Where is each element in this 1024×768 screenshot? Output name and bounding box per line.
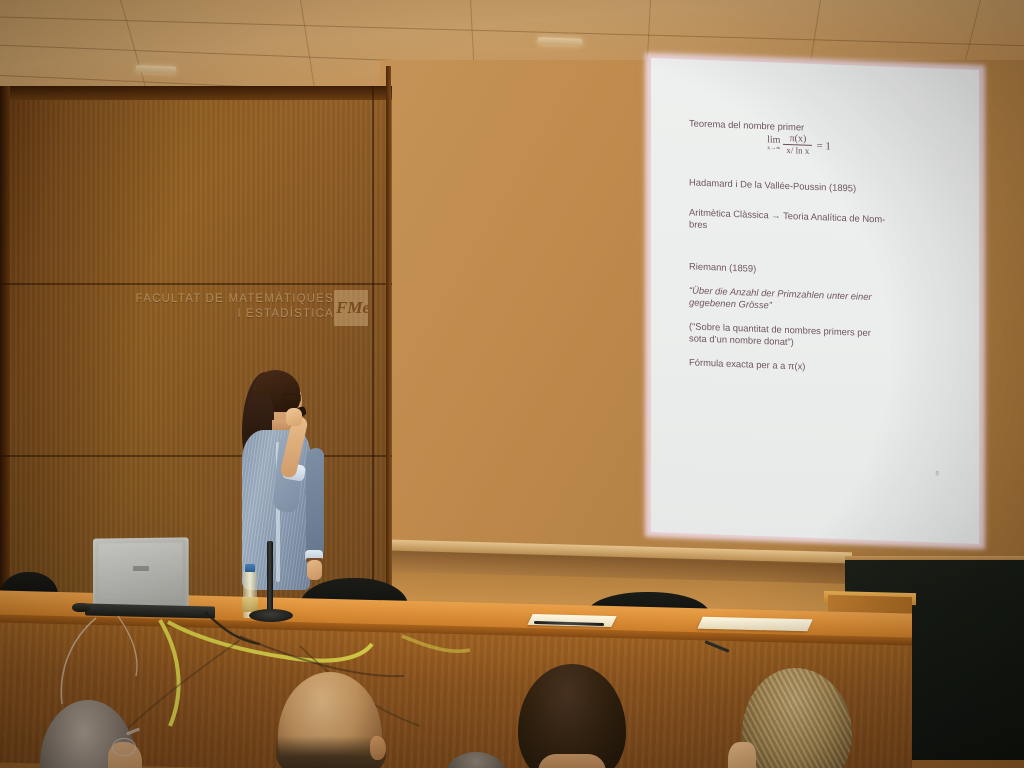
wood-panel-top-shadow <box>0 86 392 100</box>
limit-label: lim <box>767 134 780 145</box>
wood-panel-seam <box>0 283 392 285</box>
computer-mouse[interactable] <box>72 603 90 612</box>
fme-logo-text: FMe <box>336 292 366 324</box>
audience-glasses-icon <box>112 738 136 756</box>
wall-corner-divider <box>386 66 391 632</box>
formula-equals: = 1 <box>816 140 830 153</box>
ceiling-light-icon <box>136 65 176 73</box>
slide-page-number: 8 <box>935 468 939 480</box>
fme-logo-icon: FMe <box>334 290 368 326</box>
fraction: π(x) x/ ln x <box>783 133 812 157</box>
limit-subscript: x→∞ <box>767 145 780 152</box>
laptop-screen[interactable] <box>93 537 189 608</box>
wood-panel-seam <box>372 86 374 626</box>
wood-panel-left-shadow <box>0 86 10 626</box>
microphone-stand-pole[interactable] <box>267 541 273 615</box>
laptop-logo-icon <box>133 566 149 571</box>
audience-face-blond <box>728 742 756 768</box>
slide-content: Teorema del nombre primer lim x→∞ π(x) x… <box>651 58 979 544</box>
projection-screen: Teorema del nombre primer lim x→∞ π(x) x… <box>651 58 979 544</box>
lecture-hall-scene: FACULTAT DE MATEMÀTIQUES I ESTADÍSTICA F… <box>0 0 1024 768</box>
audience-ear <box>370 736 386 760</box>
presenter-hand <box>286 408 302 426</box>
limit-operator: lim x→∞ <box>767 135 780 152</box>
fraction-numerator: π(x) <box>783 133 812 146</box>
audience-neck-dark-hair <box>538 754 606 768</box>
presenter-glasses-icon <box>284 394 301 402</box>
fraction-denominator: x/ ln x <box>783 145 812 157</box>
water-bottle-cap[interactable] <box>245 564 255 572</box>
ceiling-light-icon <box>538 37 582 46</box>
microphone-stand-base[interactable] <box>249 609 293 622</box>
presenter-far-hand <box>307 560 322 580</box>
presenter-far-arm <box>306 448 324 558</box>
